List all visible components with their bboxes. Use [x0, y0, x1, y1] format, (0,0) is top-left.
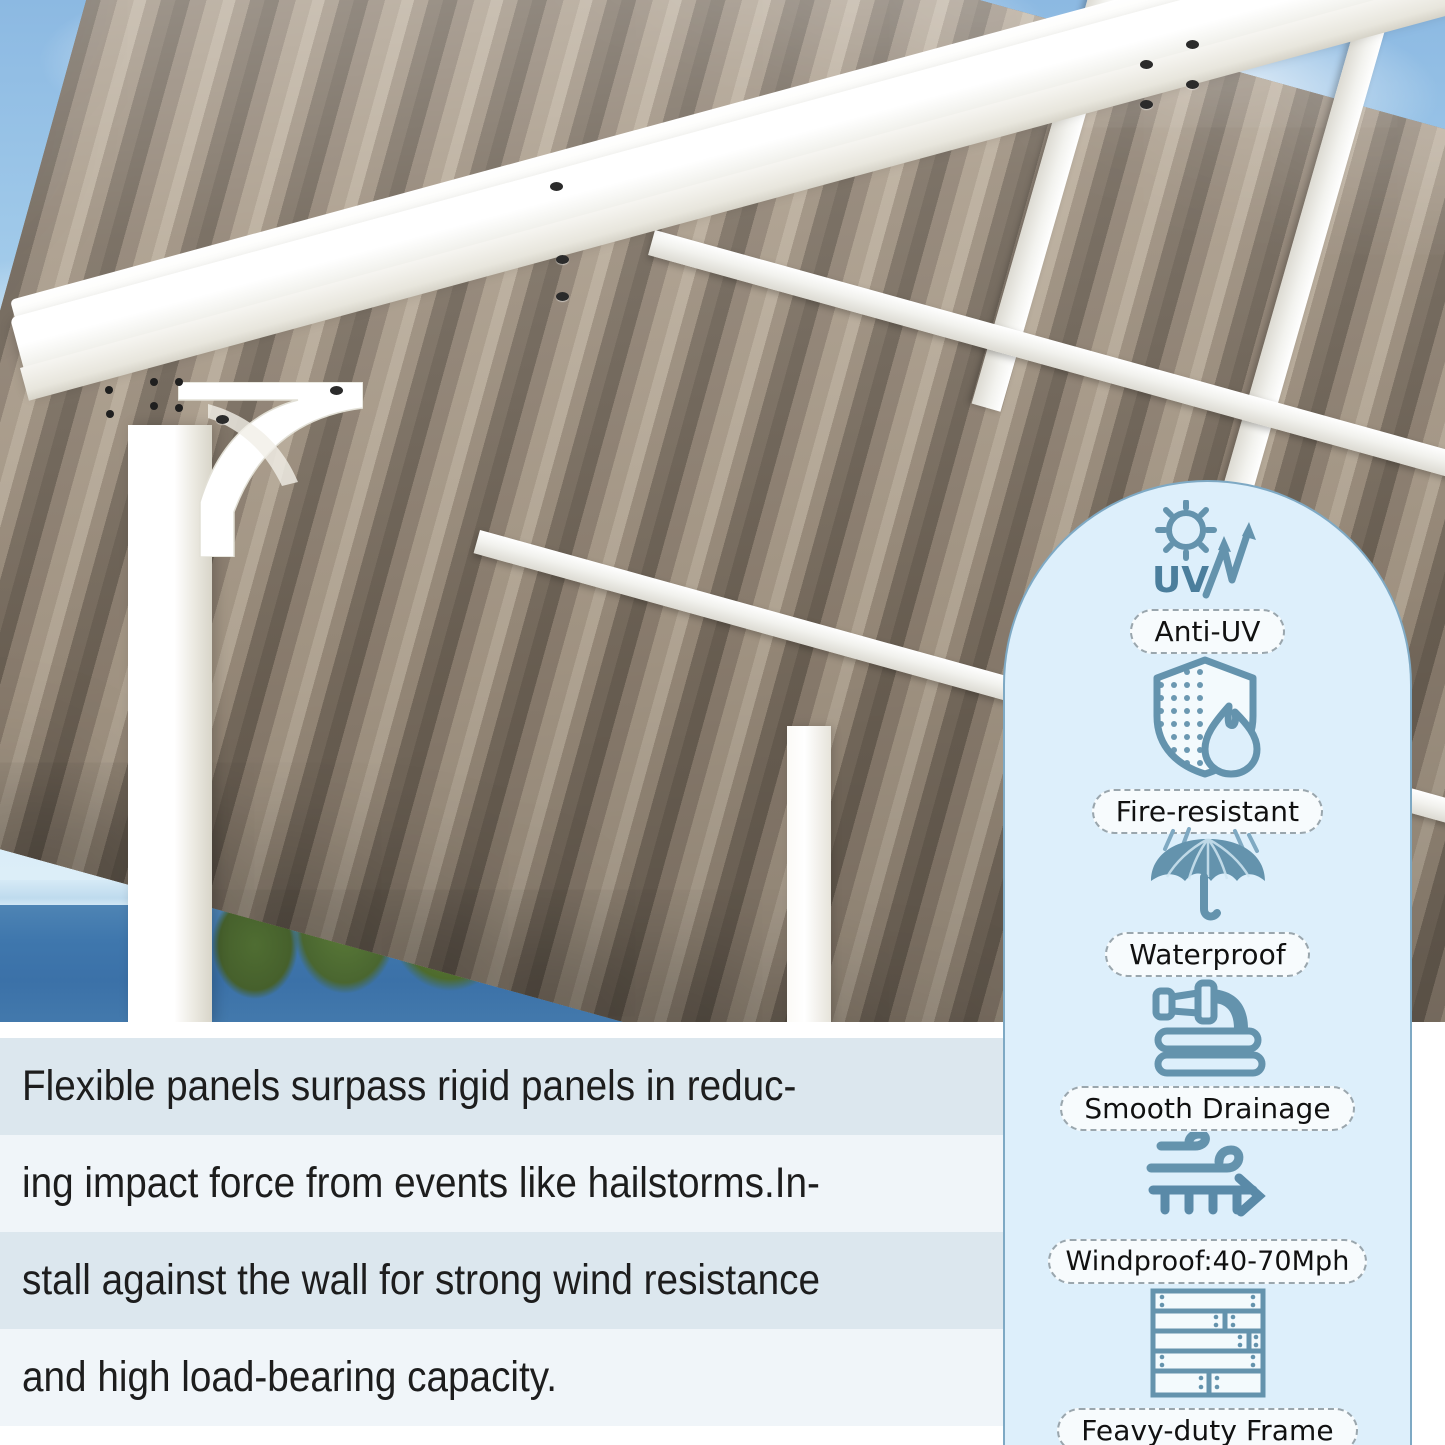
bolt-icon	[1140, 60, 1153, 69]
feature-fire-resistant[interactable]: Fire-resistant	[1005, 654, 1410, 834]
feature-label-heavy-duty-frame: Feavy-duty Frame	[1057, 1408, 1358, 1445]
product-feature-graphic: UV Anti-UV Fire	[0, 0, 1445, 1445]
bolt-icon	[106, 410, 114, 418]
bolt-icon	[550, 182, 563, 191]
anti-uv-icon: UV	[1144, 500, 1272, 600]
product-description: Flexible panels surpass rigid panels in …	[0, 1022, 1003, 1445]
bolt-icon	[556, 255, 569, 264]
description-line-text: and high load-bearing capacity.	[22, 1353, 557, 1402]
fire-resistant-icon	[1143, 654, 1273, 780]
description-line-text: stall against the wall for strong wind r…	[22, 1256, 820, 1305]
feature-label-anti-uv: Anti-UV	[1130, 609, 1284, 654]
feature-label-windproof: Windproof:40-70Mph	[1048, 1239, 1368, 1284]
windproof-icon	[1143, 1132, 1273, 1230]
feature-label-waterproof: Waterproof	[1105, 932, 1310, 977]
feature-windproof[interactable]: Windproof:40-70Mph	[1005, 1132, 1410, 1284]
description-line: stall against the wall for strong wind r…	[0, 1232, 1003, 1329]
description-line-text: Flexible panels surpass rigid panels in …	[22, 1062, 796, 1111]
svg-text:UV: UV	[1152, 560, 1209, 600]
bolt-icon	[330, 386, 343, 395]
bolt-icon	[175, 404, 183, 412]
drainage-hose-icon	[1142, 977, 1274, 1077]
bolt-icon	[1140, 100, 1153, 109]
corner-bracket-icon	[178, 382, 363, 557]
bolt-icon	[105, 386, 113, 394]
description-line: Flexible panels surpass rigid panels in …	[0, 1038, 1003, 1135]
bolt-icon	[556, 292, 569, 301]
feature-heavy-duty-frame[interactable]: Feavy-duty Frame	[1005, 1287, 1410, 1445]
bolt-icon	[1186, 80, 1199, 89]
description-line: ing impact force from events like hailst…	[0, 1135, 1003, 1232]
bolt-icon	[216, 415, 229, 424]
feature-anti-uv[interactable]: UV Anti-UV	[1005, 500, 1410, 654]
waterproof-icon	[1143, 827, 1273, 923]
heavy-duty-frame-icon	[1147, 1287, 1269, 1399]
feature-highlights-panel: UV Anti-UV Fire	[1003, 480, 1412, 1445]
bolt-icon	[1186, 40, 1199, 49]
description-line-text: ing impact force from events like hailst…	[22, 1159, 820, 1208]
description-bottom-gap	[0, 1426, 1003, 1445]
bolt-icon	[175, 378, 183, 386]
feature-label-smooth-drainage: Smooth Drainage	[1060, 1086, 1354, 1131]
description-line: and high load-bearing capacity.	[0, 1329, 1003, 1426]
support-post-secondary	[787, 726, 831, 1022]
bolt-icon	[150, 402, 158, 410]
feature-waterproof[interactable]: Waterproof	[1005, 827, 1410, 977]
feature-smooth-drainage[interactable]: Smooth Drainage	[1005, 977, 1410, 1131]
description-top-gap	[0, 1022, 1003, 1038]
bolt-icon	[150, 378, 158, 386]
